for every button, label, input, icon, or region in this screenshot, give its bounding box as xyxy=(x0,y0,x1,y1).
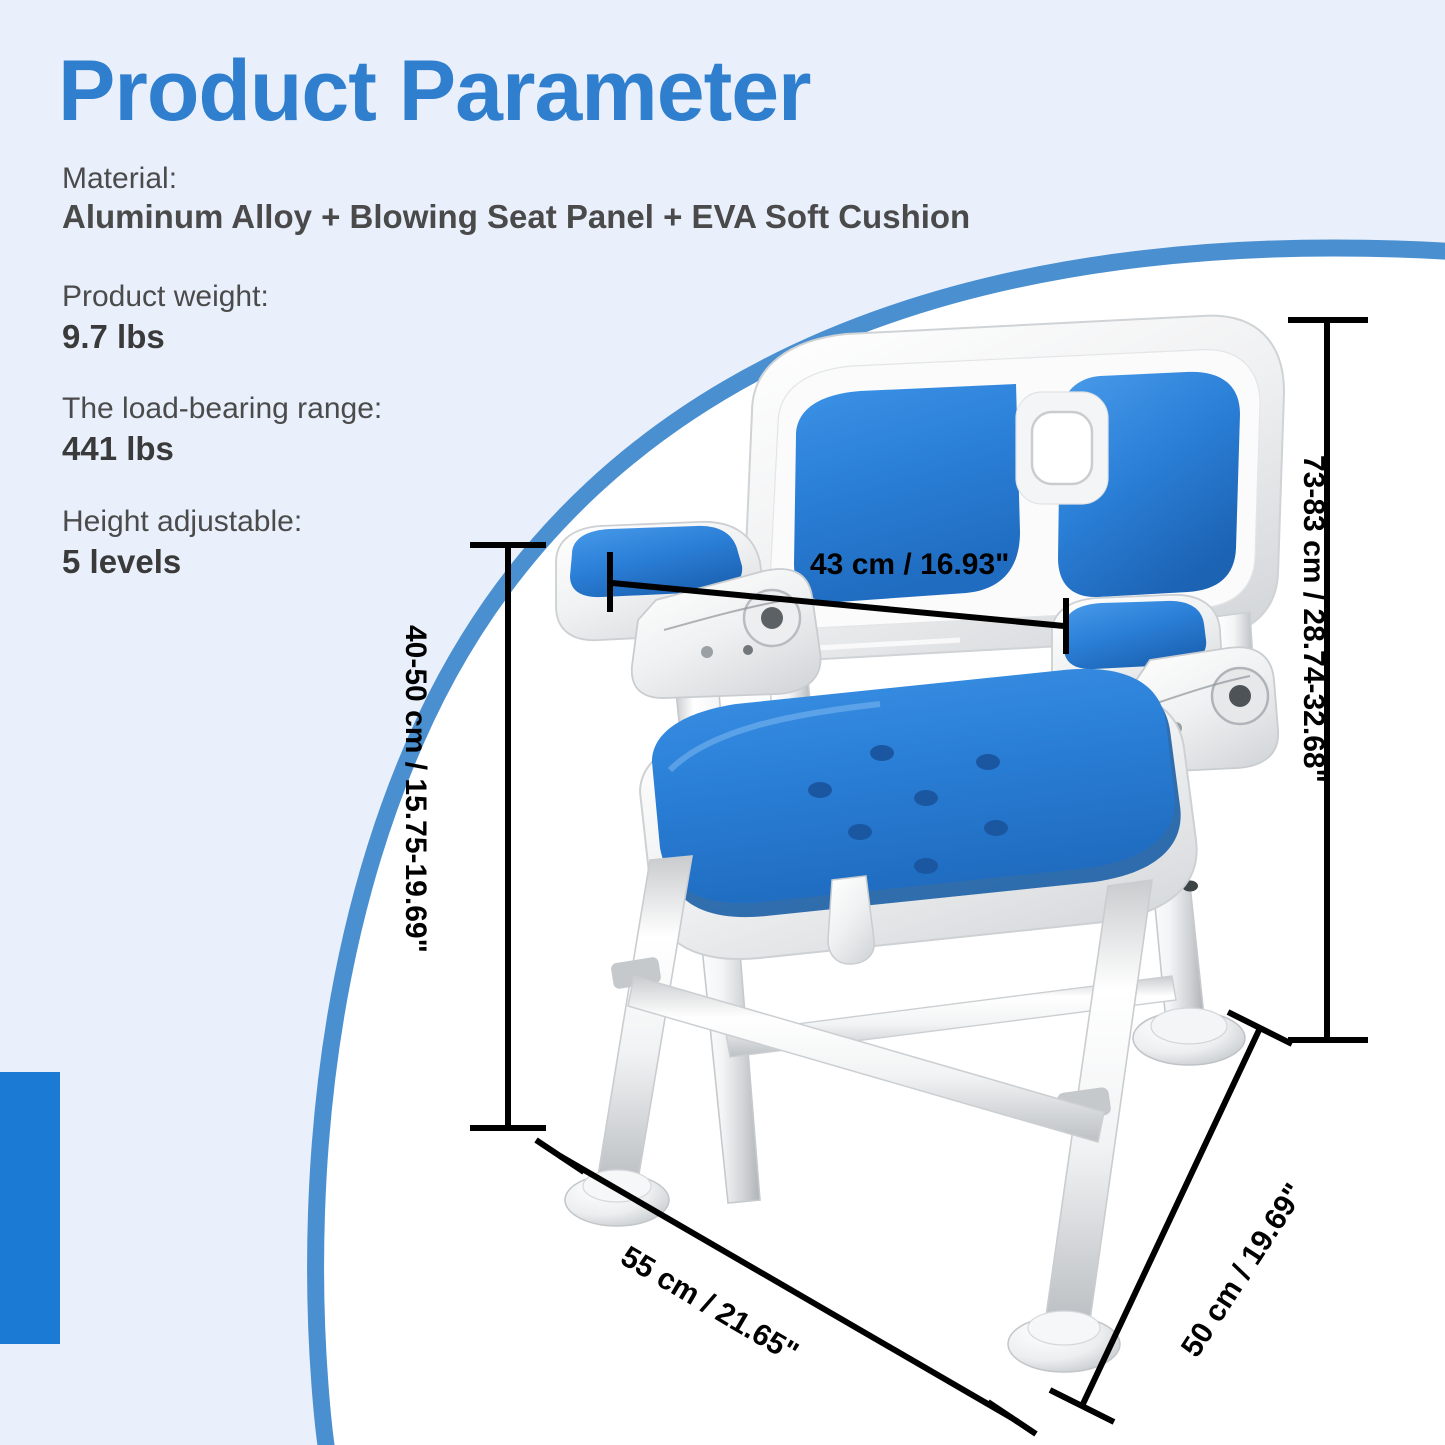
spec-height-adjustable: Height adjustable: 5 levels xyxy=(62,503,302,584)
spec-load-label: The load-bearing range: xyxy=(62,390,382,428)
dimension-label-seat-width: 43 cm / 16.93" xyxy=(810,548,1009,582)
backrest-handle-icon xyxy=(1016,392,1108,504)
folding-bracket xyxy=(828,876,874,964)
infographic-canvas: Product Parameter Material: Aluminum All… xyxy=(0,0,1445,1445)
foot-rear-right xyxy=(1133,1008,1245,1065)
spec-material-value: Aluminum Alloy + Blowing Seat Panel + EV… xyxy=(62,198,970,236)
spec-load-bearing: The load-bearing range: 441 lbs xyxy=(62,390,382,471)
spec-material: Material: Aluminum Alloy + Blowing Seat … xyxy=(62,160,970,236)
leg-front-left xyxy=(565,856,692,1226)
product-image-shower-chair xyxy=(460,300,1290,1430)
foot-front-right xyxy=(1008,1311,1120,1372)
spec-load-value: 441 lbs xyxy=(62,428,382,470)
accent-block xyxy=(0,1072,60,1344)
spec-material-label: Material: xyxy=(62,160,970,198)
spec-weight-label: Product weight: xyxy=(62,278,269,316)
page-title: Product Parameter xyxy=(58,48,811,134)
foot-front-left xyxy=(565,1170,669,1226)
spec-product-weight: Product weight: 9.7 lbs xyxy=(62,278,269,359)
spec-height-label: Height adjustable: xyxy=(62,503,302,541)
dimension-label-seat-height: 40-50 cm / 15.75-19.69" xyxy=(398,625,432,953)
spec-height-value: 5 levels xyxy=(62,541,302,583)
dimension-label-total-height: 73-83 cm / 28.74-32.68" xyxy=(1296,455,1330,783)
spec-weight-value: 9.7 lbs xyxy=(62,316,269,358)
